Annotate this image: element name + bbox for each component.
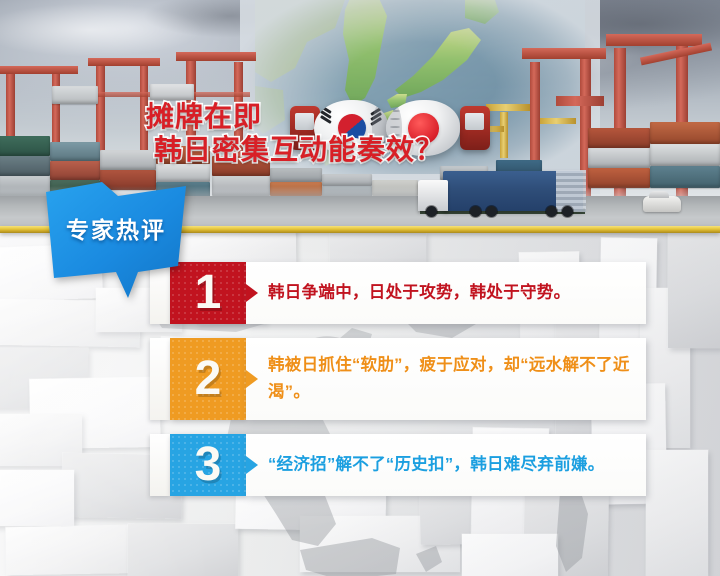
list-item[interactable]: 3 “经济招”解不了“历史扣”，韩日难尽弃前嫌。 <box>150 434 646 496</box>
truck-wheel <box>562 206 573 217</box>
headline-block: 摊牌在即 韩日密集互动能奏效？ <box>146 100 476 166</box>
row-arrow-icon <box>246 370 258 388</box>
list-item[interactable]: 1 韩日争端中，日处于攻势，韩处于守势。 <box>150 262 646 324</box>
row-text-panel: “经济招”解不了“历史扣”，韩日难尽弃前嫌。 <box>246 434 646 496</box>
row-number: 2 <box>195 355 222 403</box>
row-text-panel: 韩被日抓住“软肋”，疲于应对，却“远水解不了近渴”。 <box>246 338 646 420</box>
list-item[interactable]: 2 韩被日抓住“软肋”，疲于应对，却“远水解不了近渴”。 <box>150 338 646 420</box>
truck-wheel <box>546 206 557 217</box>
row-arrow-icon <box>246 284 258 302</box>
row-text: 韩日争端中，日处于攻势，韩处于守势。 <box>268 280 636 307</box>
headline-line-1: 摊牌在即 <box>146 100 476 133</box>
truck-wheel <box>470 206 481 217</box>
row-left-strip <box>150 338 170 420</box>
row-text: “经济招”解不了“历史扣”，韩日难尽弃前嫌。 <box>268 452 636 479</box>
truck-side-cargo <box>556 170 586 212</box>
white-car <box>643 196 681 212</box>
row-text: 韩被日抓住“软肋”，疲于应对，却“远水解不了近渴”。 <box>268 352 636 406</box>
row-text-panel: 韩日争端中，日处于攻势，韩处于守势。 <box>246 262 646 324</box>
expert-review-ribbon: 专家热评 <box>40 180 192 300</box>
truck-wheel <box>426 206 437 217</box>
ribbon-label: 专家热评 <box>40 211 192 245</box>
row-left-strip <box>150 434 170 496</box>
row-number-badge: 3 <box>170 434 246 496</box>
headline-line-2: 韩日密集互动能奏效？ <box>146 133 476 166</box>
row-number: 3 <box>195 441 222 489</box>
row-number-badge: 2 <box>170 338 246 420</box>
row-number: 1 <box>195 269 222 317</box>
poster-canvas: 摊牌在即 韩日密集互动能奏效？ 专家热评 1 韩日争 <box>0 0 720 576</box>
expert-points-list: 1 韩日争端中，日处于攻势，韩处于守势。 2 韩被日抓住“软肋”，疲于应对，却“… <box>150 262 646 510</box>
row-arrow-icon <box>246 456 258 474</box>
truck-wheel <box>486 206 497 217</box>
